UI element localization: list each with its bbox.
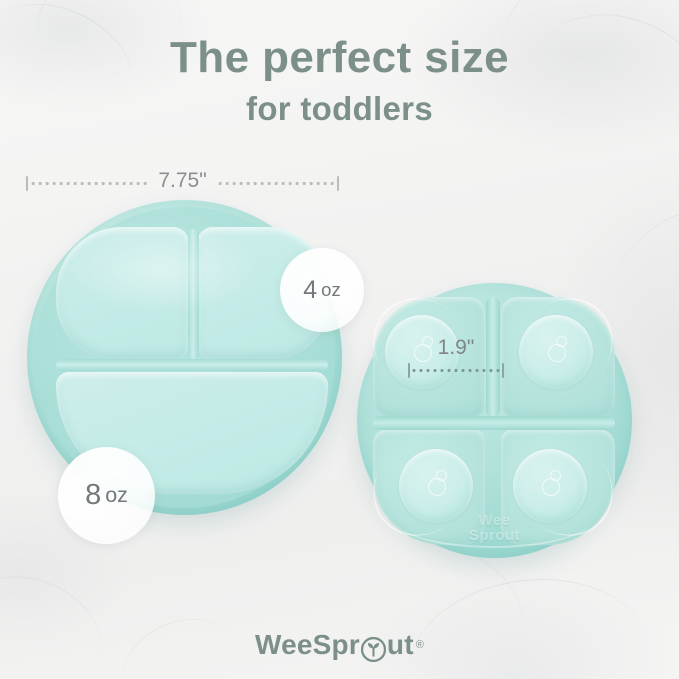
product-image: The perfect size for toddlers 7.75" — [0, 0, 679, 679]
divider-horizontal — [56, 359, 328, 371]
capacity-badge-4oz: 4 oz — [280, 248, 364, 332]
suction-dimension-cap-right — [502, 363, 504, 378]
suction-dimension-leader — [410, 369, 502, 372]
suction-valve-icon — [548, 344, 566, 362]
divider-vertical — [188, 229, 199, 359]
capacity-badge-8oz: 8 oz — [58, 447, 155, 544]
plate-width-dimension: 7.75" — [26, 172, 339, 194]
compartment-top-left — [56, 227, 189, 359]
capacity-value: 8 — [85, 479, 101, 512]
registered-trademark: ® — [416, 639, 424, 651]
headline-secondary: for toddlers — [0, 90, 679, 128]
brand-logo: WeeSpr ut ® — [0, 629, 679, 661]
dimension-leader-right — [215, 182, 337, 185]
embossed-brand-line2: Sprout — [469, 527, 520, 544]
dimension-leader-left — [28, 182, 150, 185]
underside-seam-horizontal — [373, 416, 615, 430]
capacity-unit: oz — [105, 483, 128, 508]
embossed-brand-line1: Wee — [478, 512, 510, 529]
suction-cup-top-right — [519, 315, 593, 389]
brand-name-part1: WeeSpr — [255, 629, 360, 661]
sprout-icon — [361, 637, 386, 662]
embossed-brand-mark: Wee Sprout — [469, 513, 520, 545]
dimension-cap-right — [337, 176, 339, 191]
plate-width-label: 7.75" — [150, 169, 214, 193]
brand-name-part2: ut — [387, 629, 414, 661]
divided-plate-bottom-view: Wee Sprout — [357, 283, 632, 558]
headline-primary: The perfect size — [0, 36, 679, 81]
capacity-value: 4 — [303, 276, 317, 305]
suction-cup-dimension: 1.9" — [408, 337, 504, 377]
capacity-unit: oz — [321, 279, 341, 301]
suction-cup-diameter-label: 1.9" — [408, 337, 504, 358]
